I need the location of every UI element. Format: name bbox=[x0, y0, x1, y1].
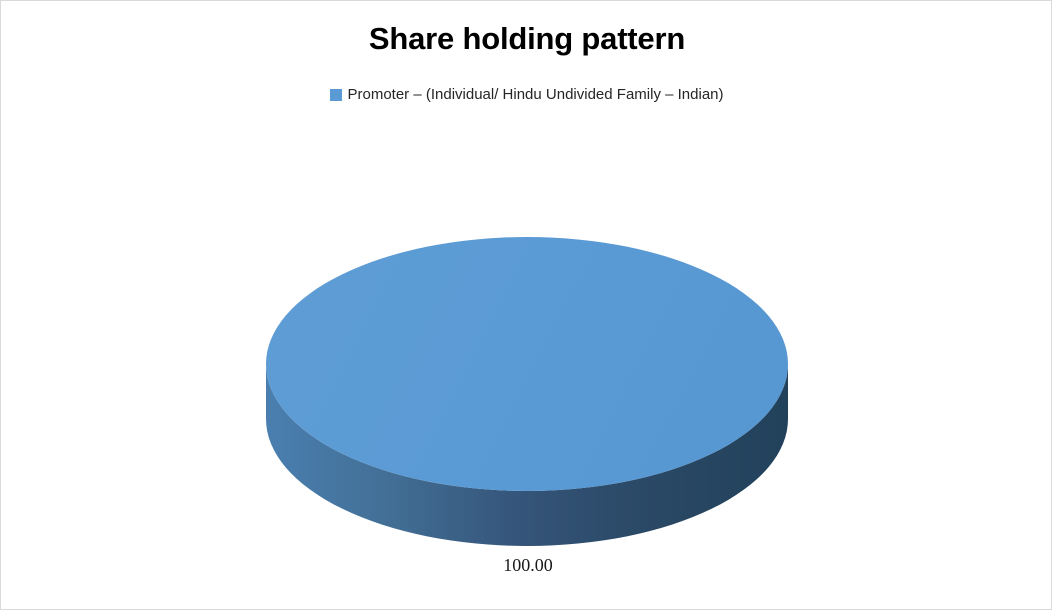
pie-data-label: 100.00 bbox=[428, 554, 628, 576]
pie-chart-3d[interactable] bbox=[266, 237, 788, 546]
chart-canvas: Share holding pattern Promoter – (Indivi… bbox=[0, 0, 1052, 610]
legend-entry-promoter[interactable]: Promoter – (Individual/ Hindu Undivided … bbox=[330, 86, 723, 104]
chart-legend: Promoter – (Individual/ Hindu Undivided … bbox=[1, 86, 1052, 104]
legend-entry-label: Promoter – (Individual/ Hindu Undivided … bbox=[347, 86, 723, 104]
pie-slice-top-face bbox=[266, 237, 788, 491]
chart-title: Share holding pattern bbox=[1, 19, 1052, 59]
pie-slice-group bbox=[266, 237, 788, 546]
legend-square-icon bbox=[330, 89, 342, 101]
